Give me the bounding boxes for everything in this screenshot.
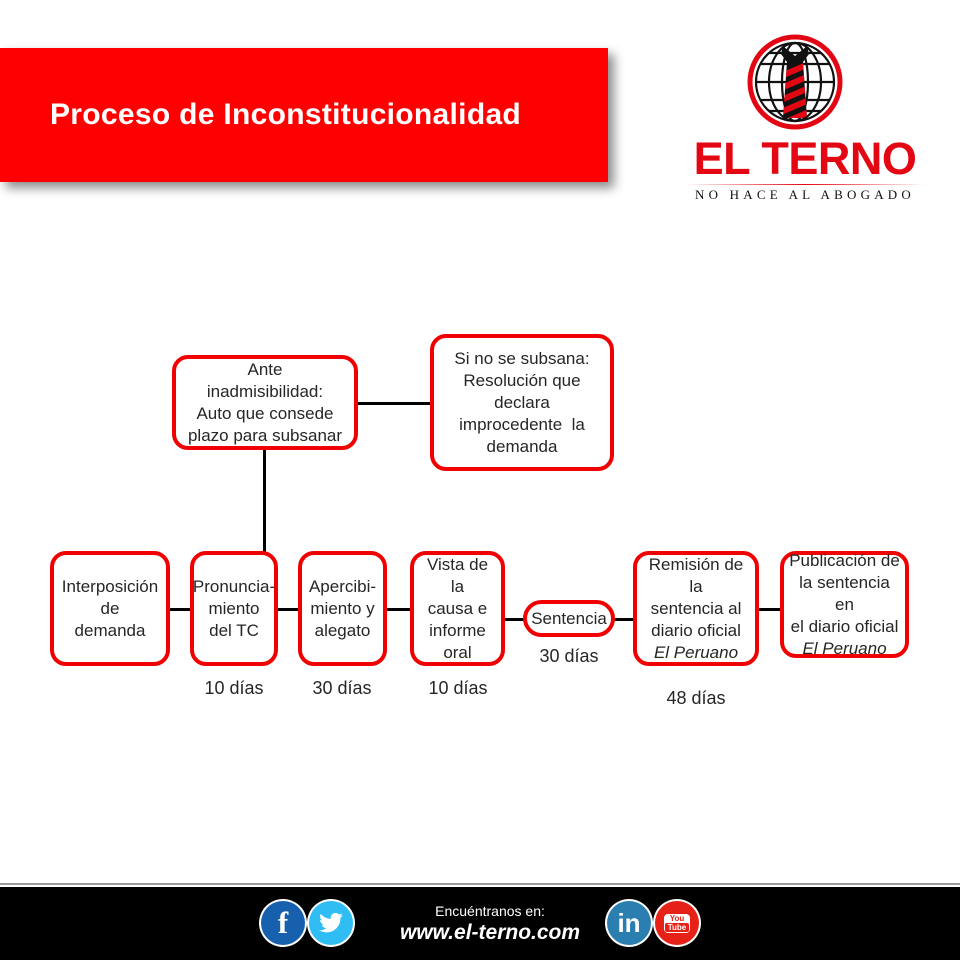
edge-ante-to-sinosubsana <box>358 402 430 405</box>
edge-interposicion-to-pronunciamiento <box>168 608 192 611</box>
find-us-label: Encuéntranos en: <box>380 903 600 919</box>
linkedin-icon[interactable]: in <box>607 901 651 945</box>
node-line: Vista de la <box>418 554 497 598</box>
node-line: informe <box>418 620 497 642</box>
node-line: Pronuncia- <box>193 576 275 598</box>
node-line: la sentencia en <box>788 572 901 616</box>
node-pronunciamiento-del-tc[interactable]: Pronuncia- miento del TC <box>190 551 278 666</box>
node-line: causa e <box>418 598 497 620</box>
node-line: alegato <box>309 620 376 642</box>
node-line: Interposición <box>62 576 158 598</box>
node-line: oral <box>418 642 497 664</box>
node-line: Si no se subsana: <box>454 348 589 370</box>
day-label-remision: 48 días <box>646 688 746 709</box>
node-line: de <box>62 598 158 620</box>
node-line: Auto que consede <box>188 403 342 425</box>
node-line: inadmisibilidad: <box>188 381 342 403</box>
page-footer: f Encuéntranos en: www.el-terno.com in Y… <box>0 887 960 960</box>
node-line: el diario oficial <box>788 616 901 638</box>
website-link[interactable]: www.el-terno.com <box>380 921 600 945</box>
node-line: Resolución que <box>454 370 589 392</box>
node-line-italic: El Peruano <box>641 642 751 664</box>
node-vista-de-la-causa[interactable]: Vista de la causa e informe oral <box>410 551 505 666</box>
node-line: Remisión de la <box>641 554 751 598</box>
node-line-italic: El Peruano <box>788 638 901 660</box>
node-line: declara <box>454 392 589 414</box>
node-line: sentencia al <box>641 598 751 620</box>
node-sentencia[interactable]: Sentencia <box>523 600 615 637</box>
node-ante-inadmisibilidad[interactable]: Ante inadmisibilidad: Auto que consede p… <box>172 355 358 450</box>
edge-vista-to-sentencia <box>505 618 525 621</box>
node-apercibimiento-y-alegato[interactable]: Apercibi- miento y alegato <box>298 551 387 666</box>
edge-sentencia-to-remision <box>613 618 635 621</box>
youtube-badge-bottom: Tube <box>665 923 690 932</box>
linkedin-glyph: in <box>617 908 640 939</box>
node-line: Sentencia <box>531 608 607 630</box>
node-line: del TC <box>193 620 275 642</box>
node-si-no-se-subsana[interactable]: Si no se subsana: Resolución que declara… <box>430 334 614 471</box>
node-line: improcedente la <box>454 414 589 436</box>
footer-contact: Encuéntranos en: www.el-terno.com <box>380 903 600 945</box>
node-line: Publicación de <box>788 550 901 572</box>
day-label-sentencia: 30 días <box>519 646 619 667</box>
edge-remision-to-publicacion <box>757 608 780 611</box>
youtube-badge-top: You <box>670 914 685 923</box>
edge-apercibimiento-to-vista <box>385 608 410 611</box>
facebook-icon[interactable]: f <box>261 901 305 945</box>
node-line: demanda <box>454 436 589 458</box>
node-line: demanda <box>62 620 158 642</box>
twitter-icon[interactable] <box>309 901 353 945</box>
footer-divider <box>0 883 960 885</box>
node-line: miento <box>193 598 275 620</box>
twitter-bird-glyph <box>318 910 344 936</box>
edge-ante-to-pronunciamiento <box>263 450 266 554</box>
day-label-apercibimiento: 30 días <box>292 678 392 699</box>
flowchart: Ante inadmisibilidad: Auto que consede p… <box>0 0 960 884</box>
node-remision-de-la-sentencia[interactable]: Remisión de la sentencia al diario ofici… <box>633 551 759 666</box>
youtube-icon[interactable]: You Tube <box>655 901 699 945</box>
node-publicacion-de-la-sentencia[interactable]: Publicación de la sentencia en el diario… <box>780 551 909 658</box>
day-label-pronunciamiento: 10 días <box>184 678 284 699</box>
node-line: diario oficial <box>641 620 751 642</box>
facebook-glyph: f <box>278 905 288 941</box>
day-label-vista: 10 días <box>408 678 508 699</box>
node-interposicion-de-demanda[interactable]: Interposición de demanda <box>50 551 170 666</box>
node-line: Ante <box>188 359 342 381</box>
edge-pronunciamiento-to-apercibimiento <box>276 608 300 611</box>
node-line: Apercibi- <box>309 576 376 598</box>
youtube-badge: You Tube <box>664 914 690 933</box>
node-line: plazo para subsanar <box>188 425 342 447</box>
node-line: miento y <box>309 598 376 620</box>
